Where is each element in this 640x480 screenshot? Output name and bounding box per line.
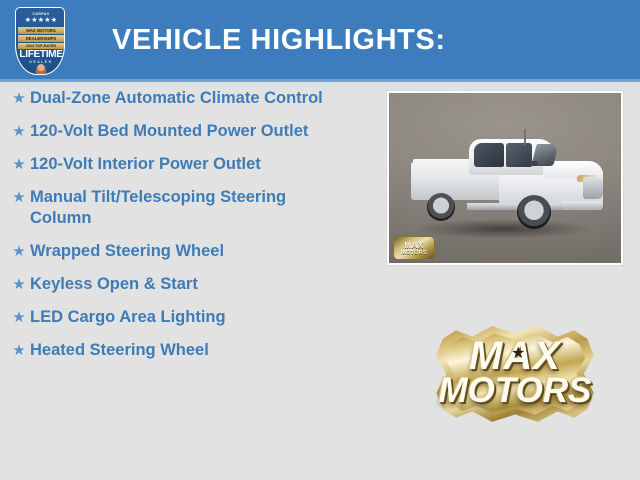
truck-rear-wheel — [427, 193, 455, 221]
watermark-max-label: MAX — [404, 241, 423, 250]
vehicle-photo[interactable]: MAX MOTORS — [389, 93, 621, 263]
star-bullet-icon: ★ — [8, 187, 30, 208]
badge-line-top-rated: 2023 TOP-RATED — [18, 43, 64, 49]
list-item: ★ LED Cargo Area Lighting — [0, 307, 372, 328]
star-bullet-icon: ★ — [8, 307, 30, 328]
badge-shield-shape: CARFAX ★★★★★ MAX MOTORS DEALERSHIPS 2023… — [15, 7, 65, 75]
page-title: VEHICLE HIGHLIGHTS: — [112, 24, 446, 57]
pickup-truck-illustration — [411, 133, 603, 233]
max-motors-logo: MAX ★ MOTORS — [433, 322, 597, 426]
badge-line-dealerships: DEALERSHIPS — [18, 35, 64, 42]
truck-front-wheel — [517, 195, 551, 229]
watermark-motors-label: MOTORS — [401, 250, 427, 256]
list-item-label: Heated Steering Wheel — [30, 340, 209, 361]
list-item: ★ Heated Steering Wheel — [0, 340, 372, 361]
header-underline — [0, 79, 640, 82]
list-item: ★ Keyless Open & Start — [0, 274, 372, 295]
carfax-top-rated-dealer-badge: CARFAX ★★★★★ MAX MOTORS DEALERSHIPS 2023… — [15, 7, 65, 75]
stars-icon: ★★★★★ — [16, 17, 65, 25]
list-item: ★ 120-Volt Bed Mounted Power Outlet — [0, 121, 372, 142]
star-bullet-icon: ★ — [8, 154, 30, 175]
list-item: ★ 120-Volt Interior Power Outlet — [0, 154, 372, 175]
list-item-label: LED Cargo Area Lighting — [30, 307, 226, 328]
list-item-label: Wrapped Steering Wheel — [30, 241, 224, 262]
list-item-label: Dual-Zone Automatic Climate Control — [30, 88, 323, 109]
logo-star-icon: ★ — [511, 346, 525, 362]
list-item-label: Keyless Open & Start — [30, 274, 198, 295]
list-item: ★ Wrapped Steering Wheel — [0, 241, 372, 262]
truck-bumper — [561, 201, 603, 210]
truck-grille — [583, 177, 603, 199]
list-item-label: Manual Tilt/Telescoping Steering Column — [30, 187, 342, 229]
carfax-wordmark: CARFAX — [16, 12, 65, 16]
list-item-label: 120-Volt Bed Mounted Power Outlet — [30, 121, 308, 142]
star-bullet-icon: ★ — [8, 241, 30, 262]
list-item-label: 120-Volt Interior Power Outlet — [30, 154, 261, 175]
list-item: ★ Manual Tilt/Telescoping Steering Colum… — [0, 187, 372, 229]
star-bullet-icon: ★ — [8, 274, 30, 295]
badge-line-lifetime: LIFETIME — [16, 49, 65, 60]
star-bullet-icon: ★ — [8, 88, 30, 109]
logo-word-motors: MOTORS — [433, 373, 597, 408]
list-item: ★ Dual-Zone Automatic Climate Control — [0, 88, 372, 109]
vehicle-photo-frame[interactable]: MAX MOTORS — [386, 90, 624, 266]
badge-line-max-motors: MAX MOTORS — [18, 27, 64, 34]
truck-antenna — [524, 129, 526, 145]
truck-side-mirror — [529, 161, 538, 166]
vehicle-highlights-list: ★ Dual-Zone Automatic Climate Control ★ … — [0, 88, 372, 373]
star-bullet-icon: ★ — [8, 121, 30, 142]
person-icon — [36, 64, 46, 75]
star-bullet-icon: ★ — [8, 340, 30, 361]
truck-rear-window — [474, 143, 504, 167]
max-motors-watermark-icon: MAX MOTORS — [393, 236, 435, 260]
